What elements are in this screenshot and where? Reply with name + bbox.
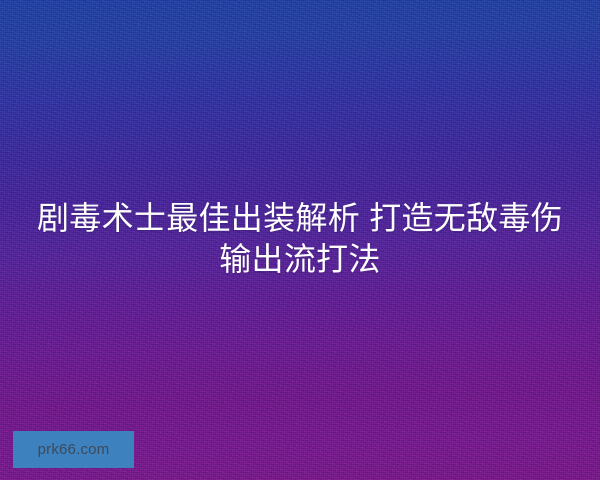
watermark-badge: prk66.com	[13, 431, 134, 468]
banner-image: 剧毒术士最佳出装解析 打造无敌毒伤输出流打法 prk66.com	[0, 0, 600, 480]
watermark-text: prk66.com	[38, 442, 110, 457]
headline-title: 剧毒术士最佳出装解析 打造无敌毒伤输出流打法	[0, 198, 600, 280]
